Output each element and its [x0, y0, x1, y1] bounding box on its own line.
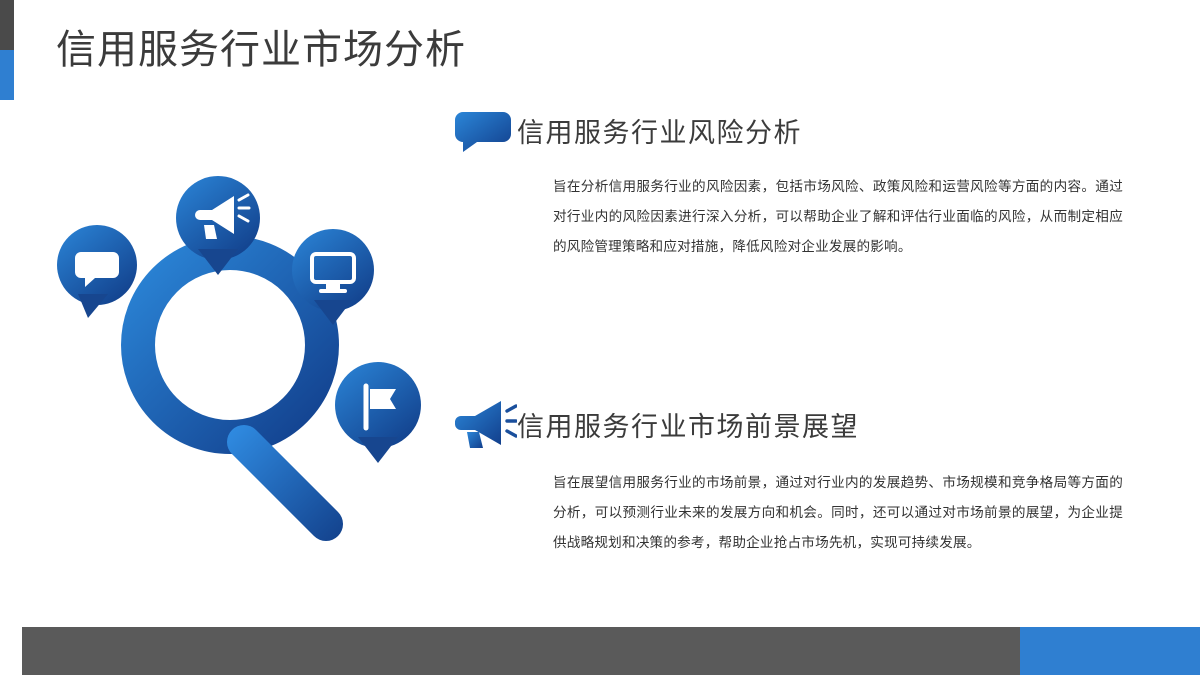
block-paragraph: 旨在展望信用服务行业的市场前景，通过对行业内的发展趋势、市场规模和竞争格局等方面… — [553, 468, 1123, 558]
footer-notch — [0, 627, 22, 675]
footer-bar-dark — [0, 627, 1020, 675]
block-paragraph: 旨在分析信用服务行业的风险因素，包括市场风险、政策风险和运营风险等方面的内容。通… — [553, 172, 1123, 262]
magnifier-with-pins-illustration — [40, 150, 460, 570]
content-block-market-outlook: 信用服务行业市场前景展望 旨在展望信用服务行业的市场前景，通过对行业内的发展趋势… — [455, 398, 1145, 558]
speech-bubble-icon — [455, 108, 517, 152]
accent-bar-dark — [0, 0, 14, 50]
pin-flag — [335, 362, 421, 463]
block-header: 信用服务行业风险分析 — [455, 104, 1145, 156]
block-header: 信用服务行业市场前景展望 — [455, 398, 1145, 450]
slide: 信用服务行业市场分析 — [0, 0, 1200, 675]
content-block-risk-analysis: 信用服务行业风险分析 旨在分析信用服务行业的风险因素，包括市场风险、政策风险和运… — [455, 104, 1145, 262]
footer-bar-blue — [1020, 627, 1200, 675]
block-heading: 信用服务行业市场前景展望 — [517, 405, 859, 444]
content-column: 信用服务行业风险分析 旨在分析信用服务行业的风险因素，包括市场风险、政策风险和运… — [455, 104, 1145, 558]
accent-bar-blue — [0, 50, 14, 100]
page-title: 信用服务行业市场分析 — [56, 22, 466, 78]
pin-speech-bubble — [57, 150, 137, 318]
block-heading: 信用服务行业风险分析 — [517, 111, 802, 150]
megaphone-icon — [455, 399, 517, 449]
